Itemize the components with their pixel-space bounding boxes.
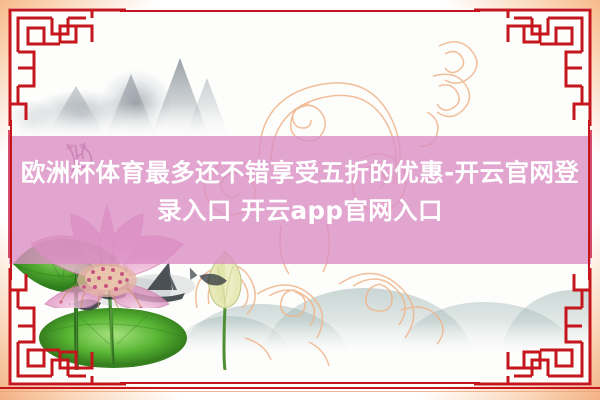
bottom-peach-line: [0, 391, 600, 392]
border-rule-right: [588, 120, 590, 280]
border-rule-left: [10, 120, 12, 280]
title-line-1: 欧洲杯体育最多还不错享受五折的优惠-开云官网登: [21, 154, 579, 192]
title-line-2: 录入口 开云app官网入口: [157, 192, 443, 230]
border-rule-top: [120, 10, 480, 12]
corner-frame-bottom-right-icon: [472, 266, 592, 386]
banner-title: 欧洲杯体育最多还不错享受五折的优惠-开云官网登 录入口 开云app官网入口: [0, 128, 600, 256]
promotional-banner: 欧洲杯体育最多还不错享受五折的优惠-开云官网登 录入口 开云app官网入口: [0, 0, 600, 400]
corner-frame-top-right-icon: [472, 8, 592, 128]
corner-frame-top-left-icon: [8, 8, 128, 128]
bottom-red-line: [0, 387, 600, 390]
corner-frame-bottom-left-icon: [8, 266, 128, 386]
border-rule-bottom: [120, 382, 480, 384]
